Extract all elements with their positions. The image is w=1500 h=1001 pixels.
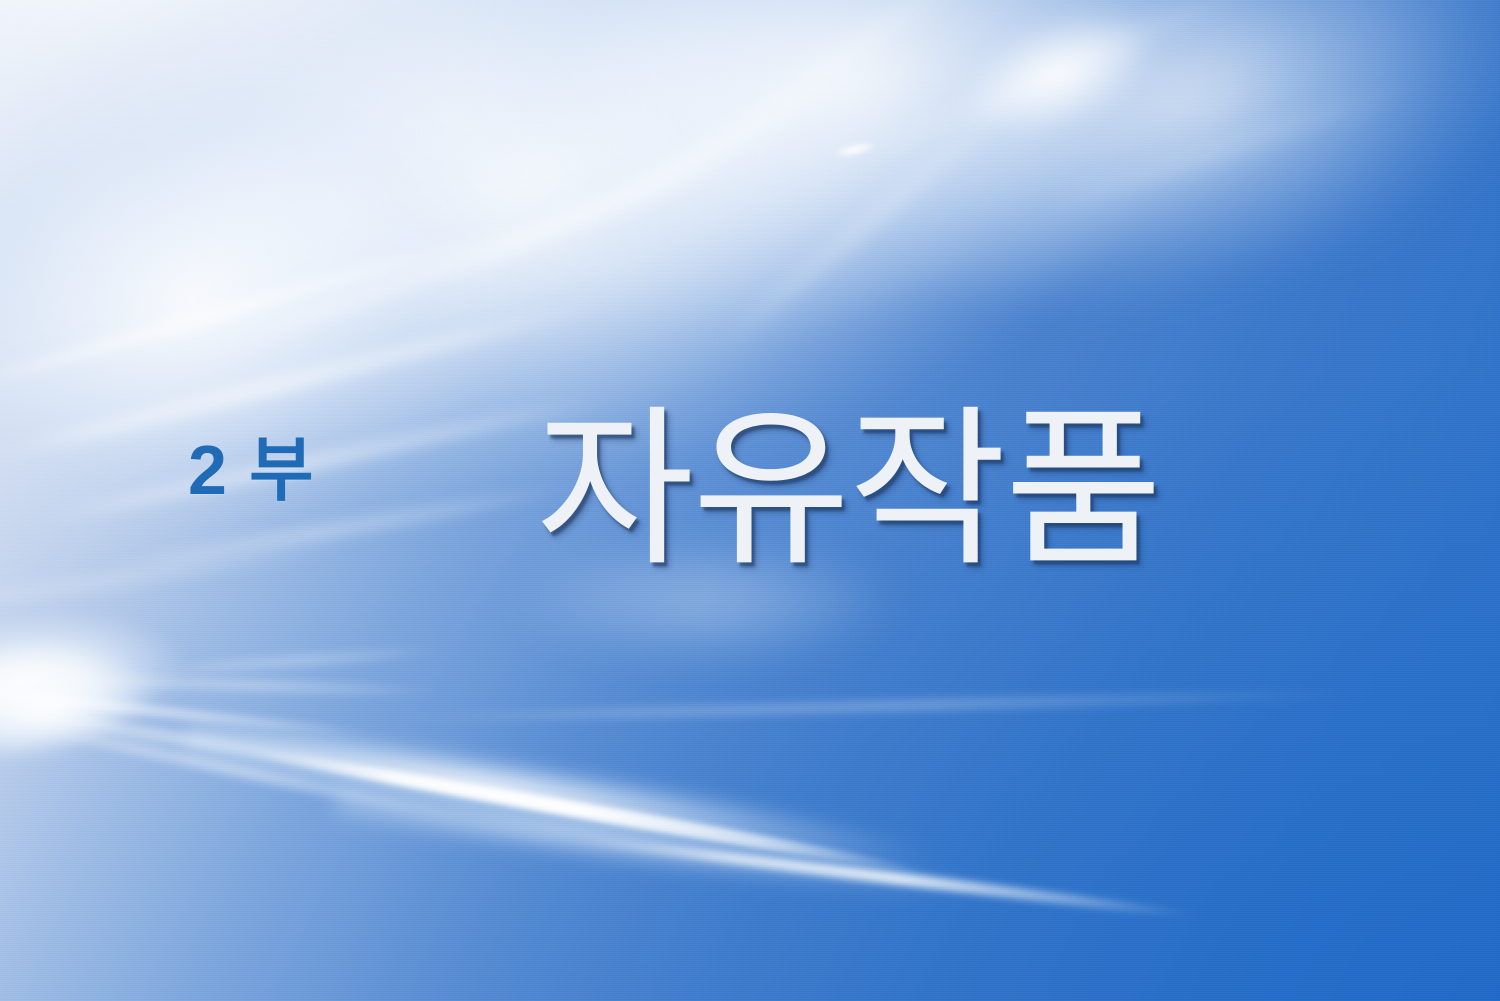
slide-text-layer: 2 부 자유작품	[0, 0, 1500, 1001]
slide-title: 자유작품	[536, 404, 1161, 576]
part-label: 2 부	[188, 435, 315, 505]
presentation-slide: 2 부 자유작품	[0, 0, 1500, 1001]
